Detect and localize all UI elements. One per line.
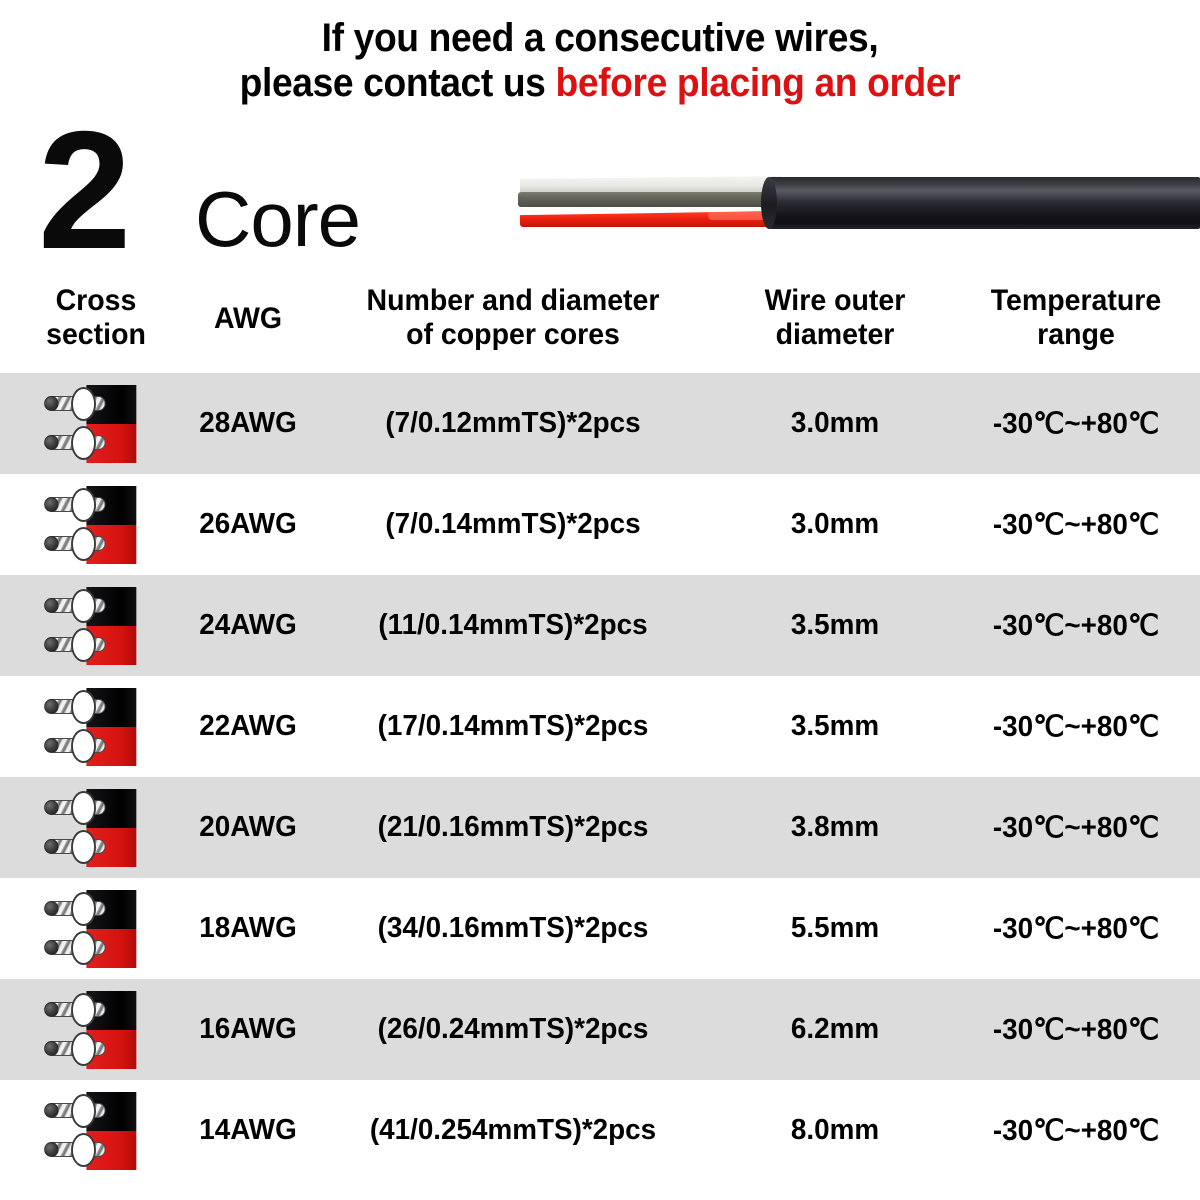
headline-line-2-accent: before placing an order [555,61,960,105]
conductor-ring-bottom-icon [71,527,96,561]
cell-copper-cores: (11/0.14mmTS)*2pcs [320,575,706,676]
table-row: 26AWG (7/0.14mmTS)*2pcs 3.0mm -30℃~+80℃ [0,474,1200,575]
cell-cross-section [12,575,181,676]
table-header-row: Cross section AWG Number and diameter of… [0,278,1200,373]
cell-cross-section [12,777,181,878]
cable-cross-section-icon [42,484,150,566]
conductor-ring-bottom-icon [71,1133,96,1167]
cell-copper-cores: (7/0.14mmTS)*2pcs [320,474,706,575]
cell-temperature-range: -30℃~+80℃ [959,979,1193,1080]
column-header-awg: AWG [187,302,309,336]
strand-tip-bottom-icon [44,637,58,652]
column-header-copper-cores-line1: Number and diameter [366,284,659,317]
table-row: 16AWG (26/0.24mmTS)*2pcs 6.2mm -30℃~+80℃ [0,979,1200,1080]
cell-copper-cores: (7/0.12mmTS)*2pcs [320,373,706,474]
cell-temperature-range: -30℃~+80℃ [959,878,1193,979]
cell-temperature-range: -30℃~+80℃ [959,474,1193,575]
two-core-cable-photo [518,168,1200,240]
cell-cross-section [12,1080,181,1181]
cable-cross-section-icon [42,888,150,970]
strand-tip-top-icon [44,901,58,916]
strand-tip-bottom-icon [44,738,58,753]
strand-tip-bottom-icon [44,1041,58,1056]
strand-tip-bottom-icon [44,536,58,551]
cell-cross-section [12,676,181,777]
table-row: 24AWG (11/0.14mmTS)*2pcs 3.5mm -30℃~+80℃ [0,575,1200,676]
cable-white-sheath [520,176,782,193]
column-header-cross-section-line2: section [46,318,146,351]
column-header-cross-section: Cross section [12,284,179,352]
cell-awg: 22AWG [187,676,310,777]
conductor-ring-bottom-icon [71,830,96,864]
cell-awg: 18AWG [187,878,310,979]
cable-jacket-end-cap [761,177,777,229]
cell-temperature-range: -30℃~+80℃ [959,575,1193,676]
strand-tip-bottom-icon [44,940,58,955]
core-count-number: 2 [38,106,125,274]
cell-awg: 20AWG [187,777,310,878]
headline-line-2: please contact us before placing an orde… [42,63,1158,104]
conductor-ring-bottom-icon [71,1032,96,1066]
conductor-ring-top-icon [71,387,96,421]
conductor-ring-bottom-icon [71,729,96,763]
strand-tip-top-icon [44,396,58,411]
cell-outer-diameter: 3.8mm [721,777,949,878]
strand-tip-top-icon [44,497,58,512]
column-header-outer-diameter: Wire outer diameter [722,284,948,352]
promo-headline: If you need a consecutive wires, please … [42,18,1158,104]
table-body: 28AWG (7/0.12mmTS)*2pcs 3.0mm -30℃~+80℃ … [0,373,1200,1181]
cell-awg: 16AWG [187,979,310,1080]
conductor-ring-bottom-icon [71,931,96,965]
cable-grey-conductor [518,192,786,207]
strand-tip-top-icon [44,800,58,815]
cell-copper-cores: (26/0.24mmTS)*2pcs [320,979,706,1080]
cell-temperature-range: -30℃~+80℃ [959,373,1193,474]
conductor-ring-top-icon [71,1094,96,1128]
cell-cross-section [12,373,181,474]
cell-cross-section [12,979,181,1080]
column-header-awg-line1: AWG [214,302,282,335]
column-header-outer-diameter-line2: diameter [776,318,895,351]
table-row: 14AWG (41/0.254mmTS)*2pcs 8.0mm -30℃~+80… [0,1080,1200,1181]
column-header-temperature-range-line2: range [1037,318,1115,351]
strand-tip-bottom-icon [44,1142,58,1157]
strand-tip-top-icon [44,1103,58,1118]
cable-cross-section-icon [42,686,150,768]
cell-awg: 28AWG [187,373,310,474]
cell-awg: 14AWG [187,1080,310,1181]
cell-outer-diameter: 3.5mm [721,575,949,676]
conductor-ring-top-icon [71,993,96,1027]
strand-tip-bottom-icon [44,435,58,450]
column-header-copper-cores-line2: of copper cores [406,318,620,351]
core-count-label: Core [195,180,360,258]
cell-outer-diameter: 3.0mm [721,373,949,474]
cell-awg: 26AWG [187,474,310,575]
headline-line-1: If you need a consecutive wires, [42,18,1158,59]
cell-temperature-range: -30℃~+80℃ [959,1080,1193,1181]
conductor-ring-bottom-icon [71,628,96,662]
conductor-ring-top-icon [71,589,96,623]
cable-cross-section-icon [42,383,150,465]
column-header-outer-diameter-line1: Wire outer [765,284,906,317]
table-row: 22AWG (17/0.14mmTS)*2pcs 3.5mm -30℃~+80℃ [0,676,1200,777]
conductor-ring-bottom-icon [71,426,96,460]
cable-cross-section-icon [42,989,150,1071]
core-count-badge: 2 Core [30,118,450,268]
cell-copper-cores: (41/0.254mmTS)*2pcs [320,1080,706,1181]
cell-cross-section [12,474,181,575]
conductor-ring-top-icon [71,690,96,724]
table-row: 20AWG (21/0.16mmTS)*2pcs 3.8mm -30℃~+80℃ [0,777,1200,878]
headline-line-2-black: please contact us [240,61,556,105]
strand-tip-top-icon [44,1002,58,1017]
cell-outer-diameter: 3.5mm [721,676,949,777]
cell-outer-diameter: 6.2mm [721,979,949,1080]
cell-outer-diameter: 8.0mm [721,1080,949,1181]
column-header-temperature-range-line1: Temperature [991,284,1162,317]
cell-copper-cores: (17/0.14mmTS)*2pcs [320,676,706,777]
cell-cross-section [12,878,181,979]
wire-spec-table: Cross section AWG Number and diameter of… [0,278,1200,1181]
cable-black-jacket [768,177,1200,229]
conductor-ring-top-icon [71,892,96,926]
column-header-temperature-range: Temperature range [960,284,1192,352]
cell-outer-diameter: 3.0mm [721,474,949,575]
strand-tip-bottom-icon [44,839,58,854]
strand-tip-top-icon [44,598,58,613]
table-row: 28AWG (7/0.12mmTS)*2pcs 3.0mm -30℃~+80℃ [0,373,1200,474]
cell-outer-diameter: 5.5mm [721,878,949,979]
conductor-ring-top-icon [71,488,96,522]
cell-temperature-range: -30℃~+80℃ [959,676,1193,777]
cell-temperature-range: -30℃~+80℃ [959,777,1193,878]
column-header-cross-section-line1: Cross [56,284,137,317]
cell-copper-cores: (34/0.16mmTS)*2pcs [320,878,706,979]
cable-cross-section-icon [42,585,150,667]
cable-cross-section-icon [42,787,150,869]
column-header-copper-cores: Number and diameter of copper cores [322,284,704,352]
table-row: 18AWG (34/0.16mmTS)*2pcs 5.5mm -30℃~+80℃ [0,878,1200,979]
strand-tip-top-icon [44,699,58,714]
cell-awg: 24AWG [187,575,310,676]
cable-cross-section-icon [42,1090,150,1172]
cell-copper-cores: (21/0.16mmTS)*2pcs [320,777,706,878]
conductor-ring-top-icon [71,791,96,825]
